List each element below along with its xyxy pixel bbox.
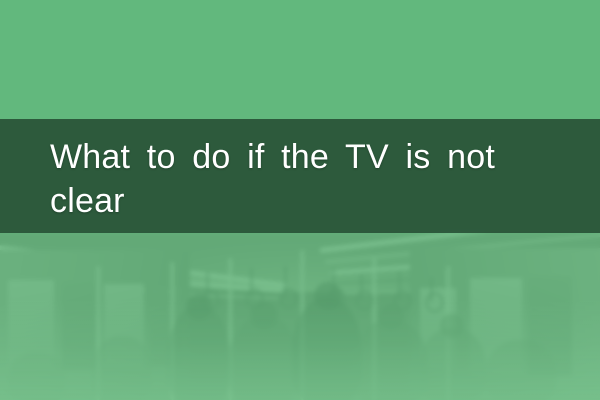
header-green-block [0,0,600,119]
bottom-lighten-gradient [0,300,600,400]
page-title: What to do if the TV is not clear [50,135,580,223]
title-band: What to do if the TV is not clear [0,119,600,233]
banner-image: What to do if the TV is not clear [0,0,600,400]
